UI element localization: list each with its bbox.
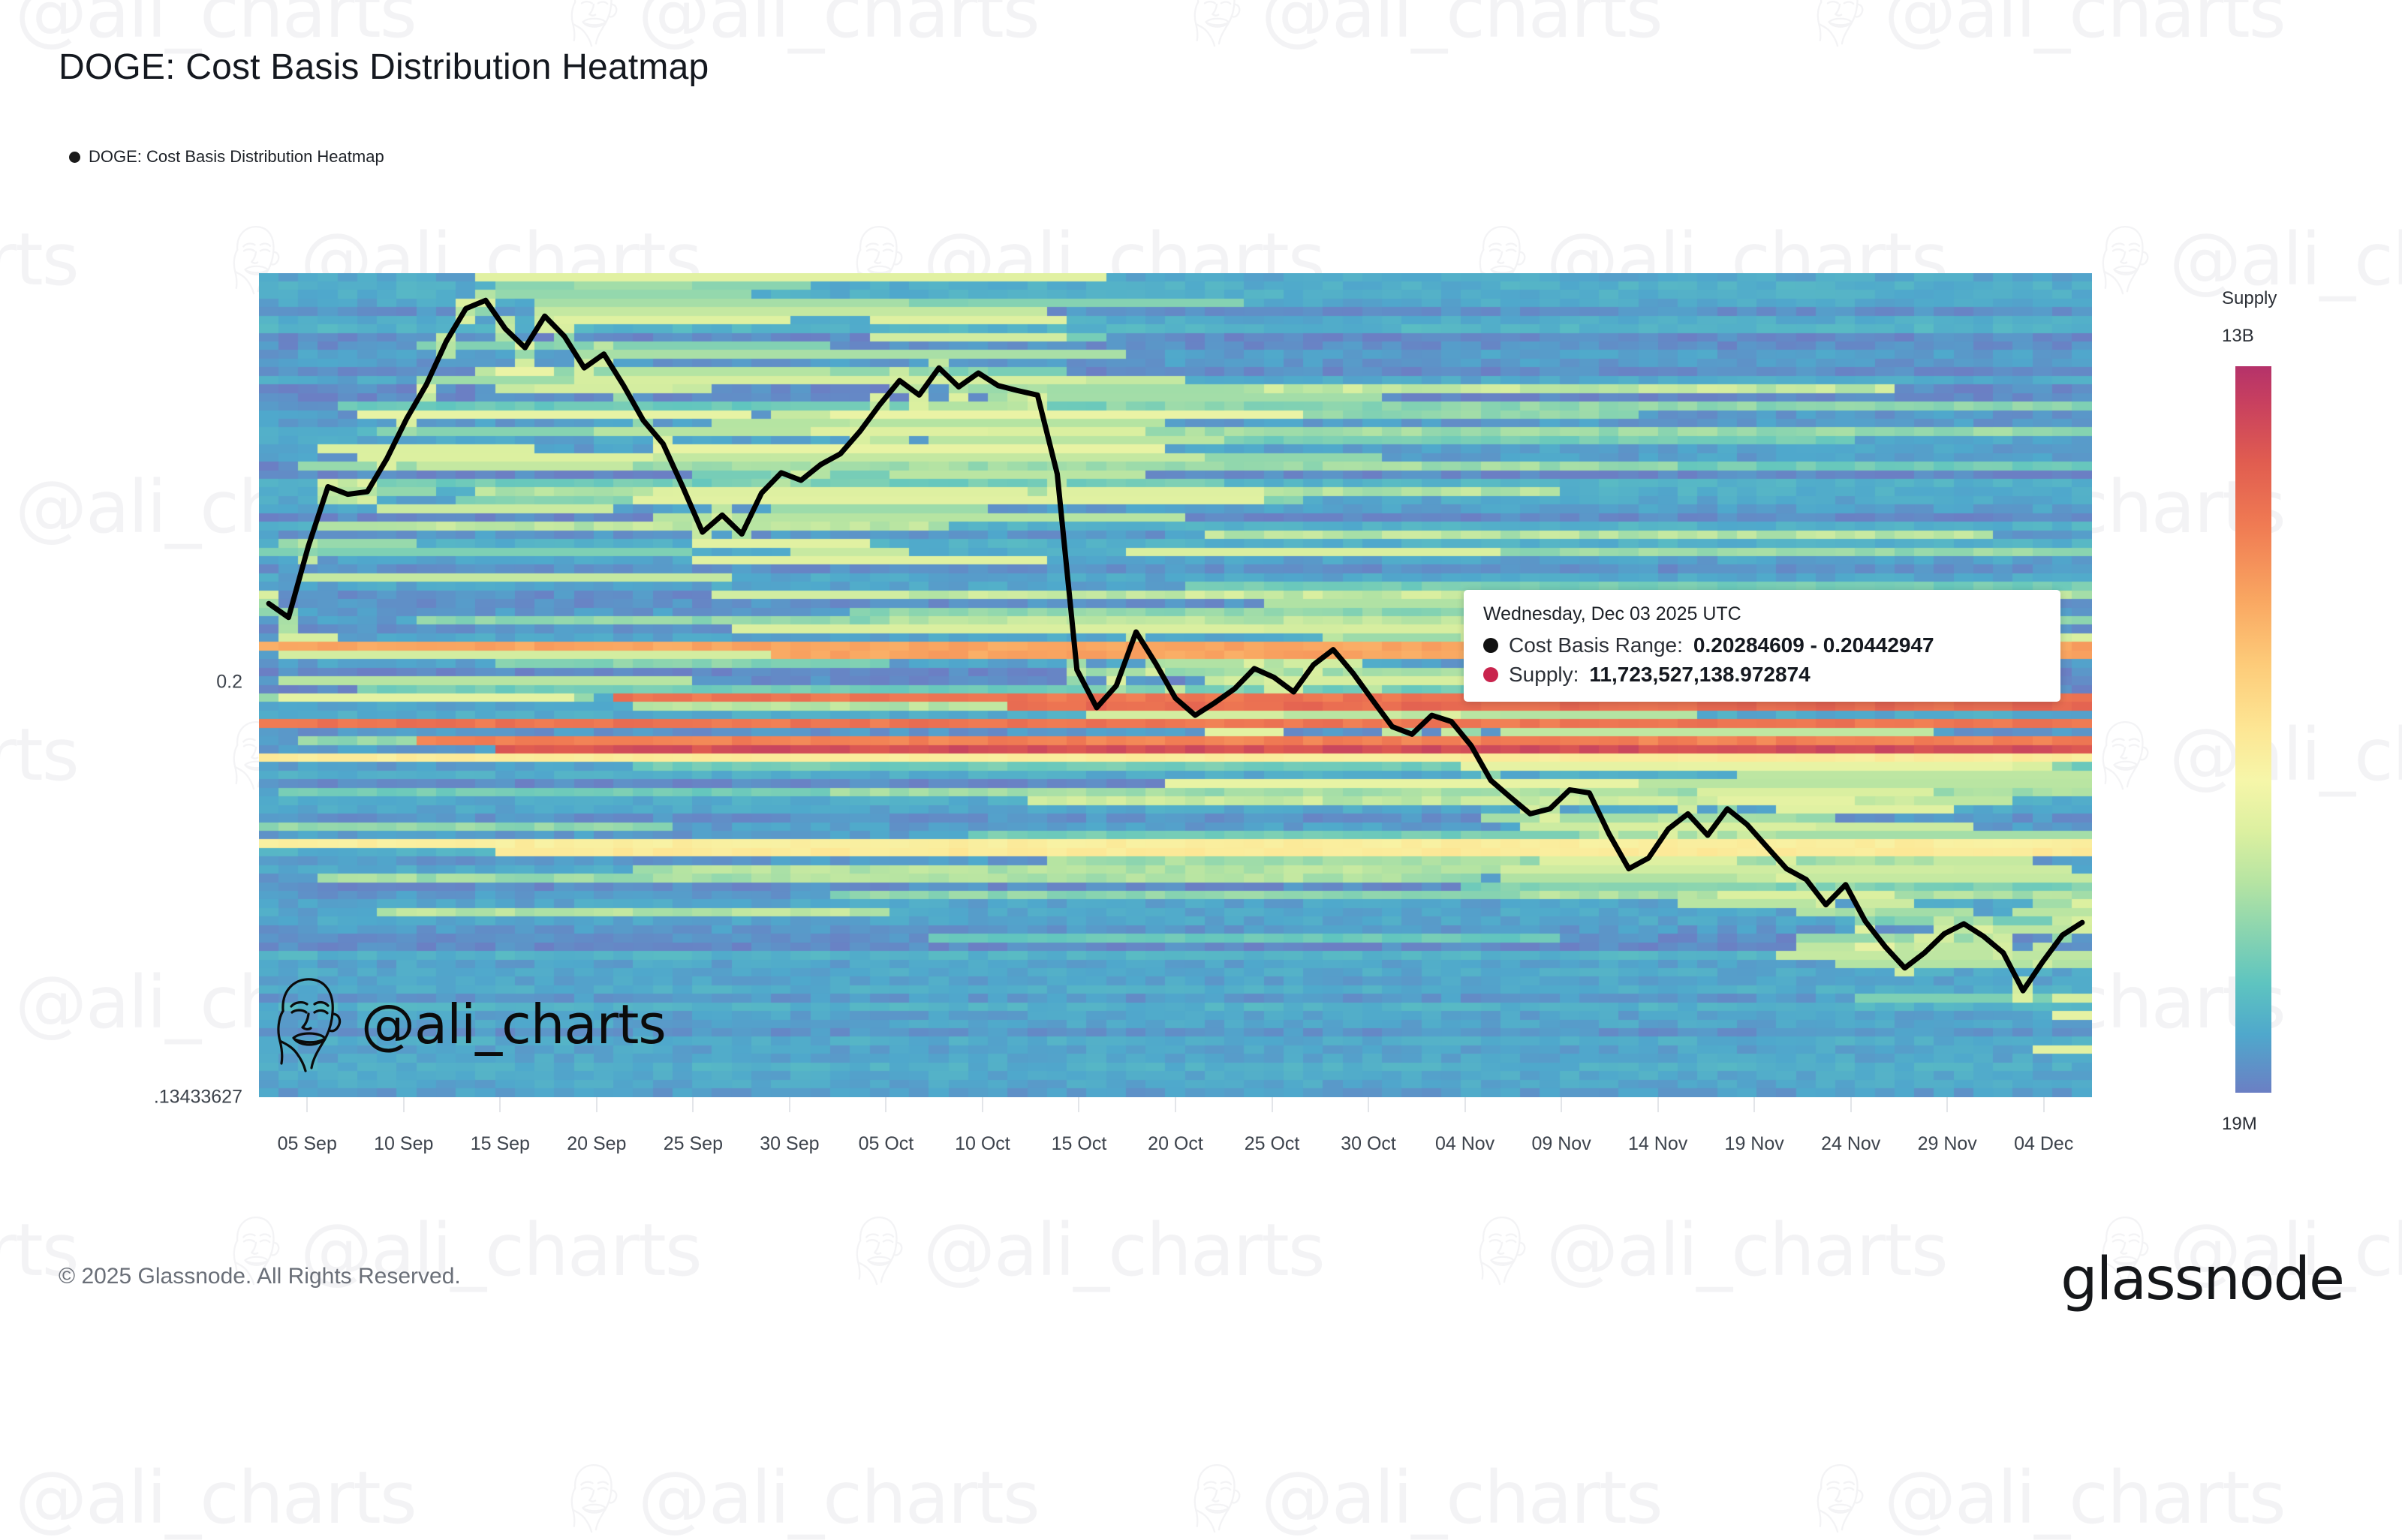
colorbar-gradient (2235, 366, 2271, 1093)
colorbar-title: Supply (2222, 288, 2277, 309)
watermark-tile: @ali_charts (848, 1208, 1324, 1292)
tooltip-row-cost-basis: Cost Basis Range: 0.20284609 - 0.2044294… (1483, 633, 2041, 657)
legend-series-label: DOGE: Cost Basis Distribution Heatmap (89, 147, 384, 167)
x-axis-tick-label: 19 Nov (1725, 1133, 1784, 1155)
x-axis-tick-label: 05 Oct (859, 1133, 914, 1155)
legend-series-dot-icon (69, 152, 80, 163)
colorbar-min-label: 19M (2222, 1114, 2257, 1135)
chart-legend[interactable]: DOGE: Cost Basis Distribution Heatmap (69, 147, 384, 167)
x-axis-tick-mark (1561, 1097, 1562, 1112)
x-axis-tick-mark (1078, 1097, 1079, 1112)
x-axis-tick-mark (789, 1097, 790, 1112)
tooltip-supply-value: 11,723,527,138.972874 (1589, 663, 1810, 687)
y-axis: 0.2.13433627 (0, 273, 259, 1097)
x-axis-tick-mark (306, 1097, 308, 1112)
x-axis-tick-mark (1850, 1097, 1852, 1112)
x-axis-tick-label: 15 Sep (471, 1133, 530, 1155)
ali-face-logo-icon (266, 972, 351, 1077)
x-axis-tick-mark (1753, 1097, 1755, 1112)
x-axis-tick-label: 05 Sep (278, 1133, 337, 1155)
ali-charts-handle: @ali_charts (361, 993, 666, 1056)
x-axis-tick-mark (2043, 1097, 2045, 1112)
footer-brand-glassnode: glassnode (2060, 1246, 2343, 1313)
x-axis-tick-label: 10 Oct (955, 1133, 1010, 1155)
tooltip-cost-basis-value: 0.20284609 - 0.20442947 (1693, 633, 1934, 657)
x-axis-tick-label: 15 Oct (1052, 1133, 1107, 1155)
tooltip-supply-dot-icon (1483, 667, 1498, 682)
watermark-tile: @ali_charts (1809, 0, 2285, 54)
watermark-tile: @ali_charts (1471, 1208, 1947, 1292)
tooltip-date: Wednesday, Dec 03 2025 UTC (1483, 603, 2041, 625)
supply-colorbar: Supply 13B 19M (2222, 273, 2402, 1144)
watermark-tile: @ali_charts (0, 1456, 416, 1540)
x-axis-tick-mark (403, 1097, 405, 1112)
x-axis-tick-label: 10 Sep (374, 1133, 433, 1155)
x-axis-tick-label: 04 Nov (1435, 1133, 1494, 1155)
footer-copyright: © 2025 Glassnode. All Rights Reserved. (59, 1264, 461, 1289)
watermark-tile: @ali_charts (1186, 0, 1662, 54)
ali-charts-watermark: @ali_charts (266, 972, 666, 1077)
x-axis-tick-label: 20 Oct (1148, 1133, 1203, 1155)
x-axis-tick-mark (982, 1097, 983, 1112)
x-axis-tick-label: 25 Sep (664, 1133, 723, 1155)
x-axis-tick-label: 20 Sep (567, 1133, 626, 1155)
x-axis-tick-mark (1946, 1097, 1948, 1112)
tooltip-cost-basis-label: Cost Basis Range: (1509, 633, 1683, 657)
x-axis-tick-label: 04 Dec (2014, 1133, 2073, 1155)
watermark-tile: @ali_charts (563, 1456, 1039, 1540)
x-axis-tick-label: 30 Sep (760, 1133, 819, 1155)
x-axis-tick-mark (499, 1097, 501, 1112)
x-axis-tick-mark (1368, 1097, 1369, 1112)
watermark-tile: @ali_charts (1809, 1456, 2285, 1540)
x-axis-tick-label: 29 Nov (1918, 1133, 1977, 1155)
x-axis: 05 Sep10 Sep15 Sep20 Sep25 Sep30 Sep05 O… (259, 1097, 2092, 1165)
x-axis-tick-label: 30 Oct (1341, 1133, 1396, 1155)
x-axis-tick-mark (692, 1097, 694, 1112)
y-axis-tick-label: 0.2 (216, 672, 242, 693)
chart-tooltip: Wednesday, Dec 03 2025 UTC Cost Basis Ra… (1464, 590, 2060, 702)
watermark-tile: @ali_charts (1186, 1456, 1662, 1540)
x-axis-tick-label: 09 Nov (1531, 1133, 1591, 1155)
x-axis-tick-label: 25 Oct (1245, 1133, 1300, 1155)
tooltip-cost-basis-dot-icon (1483, 638, 1498, 653)
colorbar-max-label: 13B (2222, 326, 2254, 347)
tooltip-supply-label: Supply: (1509, 663, 1579, 687)
page-title: DOGE: Cost Basis Distribution Heatmap (59, 47, 709, 88)
y-axis-tick-label: .13433627 (154, 1087, 242, 1108)
x-axis-tick-mark (885, 1097, 886, 1112)
x-axis-tick-label: 24 Nov (1821, 1133, 1880, 1155)
x-axis-tick-mark (1175, 1097, 1176, 1112)
x-axis-tick-mark (596, 1097, 597, 1112)
x-axis-tick-mark (1657, 1097, 1659, 1112)
x-axis-tick-label: 14 Nov (1628, 1133, 1687, 1155)
x-axis-tick-mark (1272, 1097, 1273, 1112)
x-axis-tick-mark (1464, 1097, 1466, 1112)
tooltip-row-supply: Supply: 11,723,527,138.972874 (1483, 663, 2041, 687)
